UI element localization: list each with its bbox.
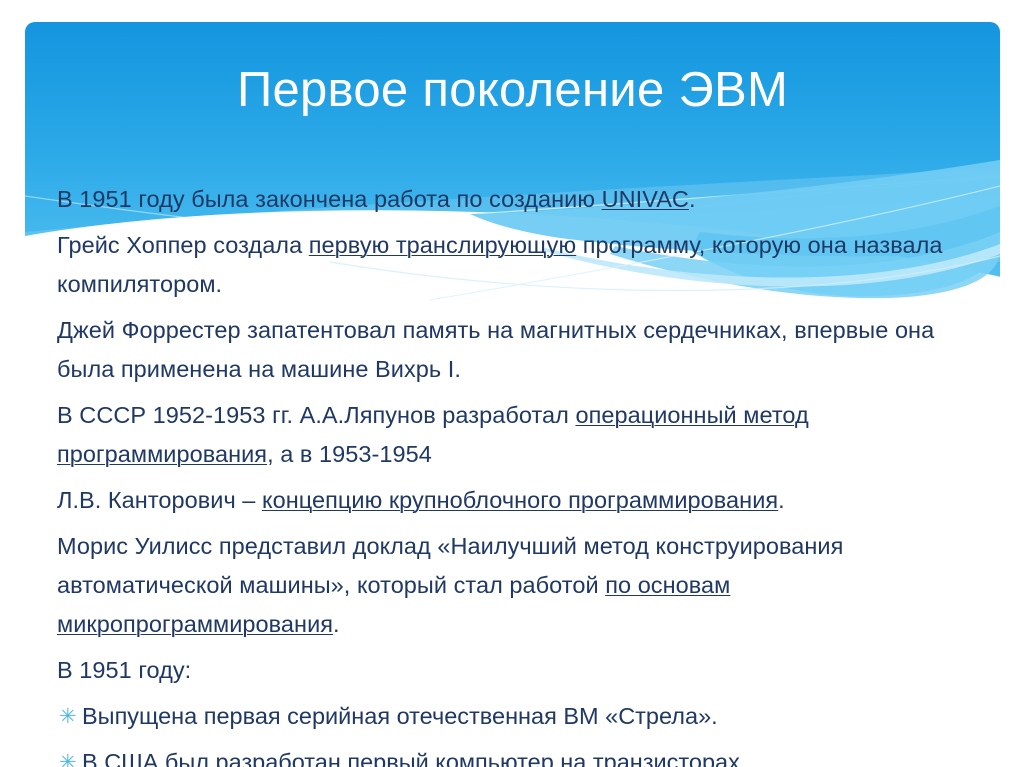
body-paragraph: В 1951 году: [57,651,967,690]
body-paragraph: Морис Уилисс представил доклад «Наилучши… [57,527,967,644]
body-paragraph: В 1951 году была закончена работа по соз… [57,180,967,219]
text-run: Джей Форрестер запатентовал память на ма… [57,317,934,382]
list-item-label: Выпущена первая серийная отечественная В… [82,703,718,729]
paragraph-list: В 1951 году была закончена работа по соз… [57,180,967,690]
text-run: . [333,611,340,637]
list-item-label: В США был разработан первый компьютер на… [82,749,746,767]
bullet-list: ✳Выпущена первая серийная отечественная … [57,697,967,767]
asterisk-bullet-icon: ✳ [59,743,77,767]
list-item: ✳Выпущена первая серийная отечественная … [57,697,967,736]
text-run: . [689,186,696,212]
body-paragraph: В СССР 1952-1953 гг. А.А.Ляпунов разрабо… [57,396,967,474]
underlined-term: концепцию крупноблочного программировани… [262,487,778,513]
list-item: ✳В США был разработан первый компьютер н… [57,743,967,767]
asterisk-bullet-icon: ✳ [59,697,77,736]
slide-body: В 1951 году была закончена работа по соз… [57,180,967,767]
text-run: Грейс Хоппер создала [57,232,309,258]
text-run: В СССР 1952-1953 гг. А.А.Ляпунов разрабо… [57,402,575,428]
underlined-term: первую транслирующую [309,232,576,258]
body-paragraph: Джей Форрестер запатентовал память на ма… [57,311,967,389]
text-run: В 1951 году была закончена работа по соз… [57,186,602,212]
text-run: В 1951 году: [57,657,191,683]
text-run: , а в 1953-1954 [267,441,432,467]
page-title: Первое поколение ЭВМ [237,65,788,116]
body-paragraph: Л.В. Канторович – концепцию крупноблочно… [57,481,967,520]
slide-title-container: Первое поколение ЭВМ [25,22,1000,170]
text-run: . [778,487,785,513]
body-paragraph: Грейс Хоппер создала первую транслирующу… [57,226,967,304]
text-run: Л.В. Канторович – [57,487,262,513]
underlined-term: UNIVAC [602,186,689,212]
presentation-slide: Первое поколение ЭВМ В 1951 году была за… [0,0,1024,767]
